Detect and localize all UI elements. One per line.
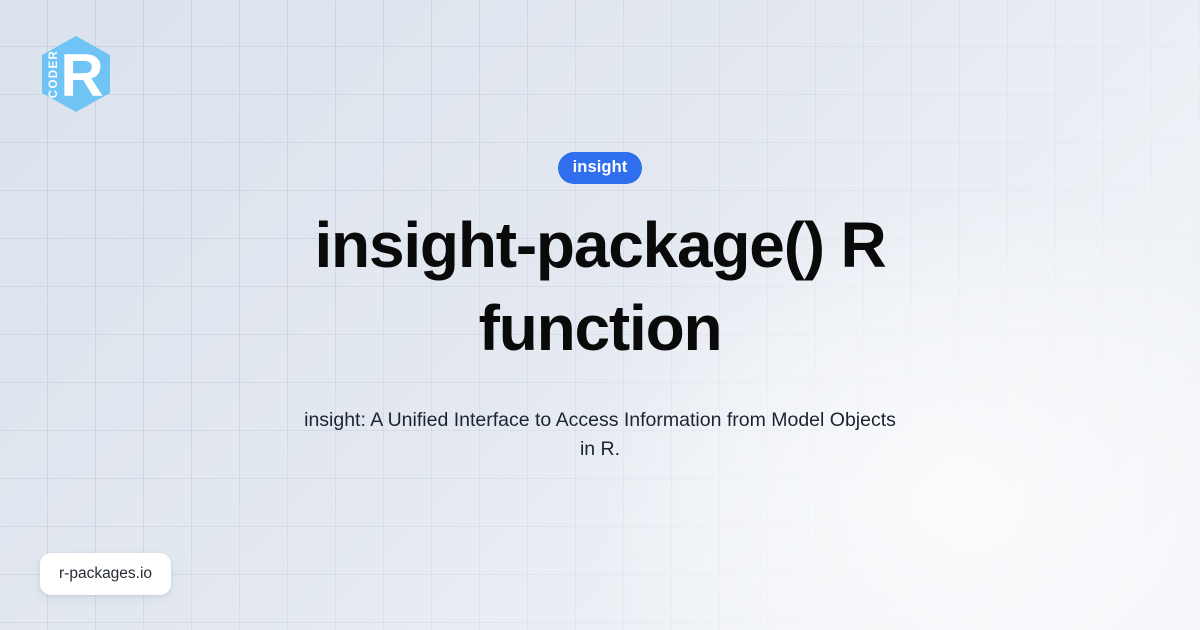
og-card: R CODER insight insight-package() R func…	[0, 0, 1200, 630]
site-badge[interactable]: r-packages.io	[40, 553, 171, 596]
page-subtitle: insight: A Unified Interface to Access I…	[300, 406, 900, 464]
page-title: insight-package() R function	[270, 204, 930, 370]
hero-section: insight insight-package() R function ins…	[0, 0, 1200, 630]
package-badge: insight	[558, 152, 643, 184]
